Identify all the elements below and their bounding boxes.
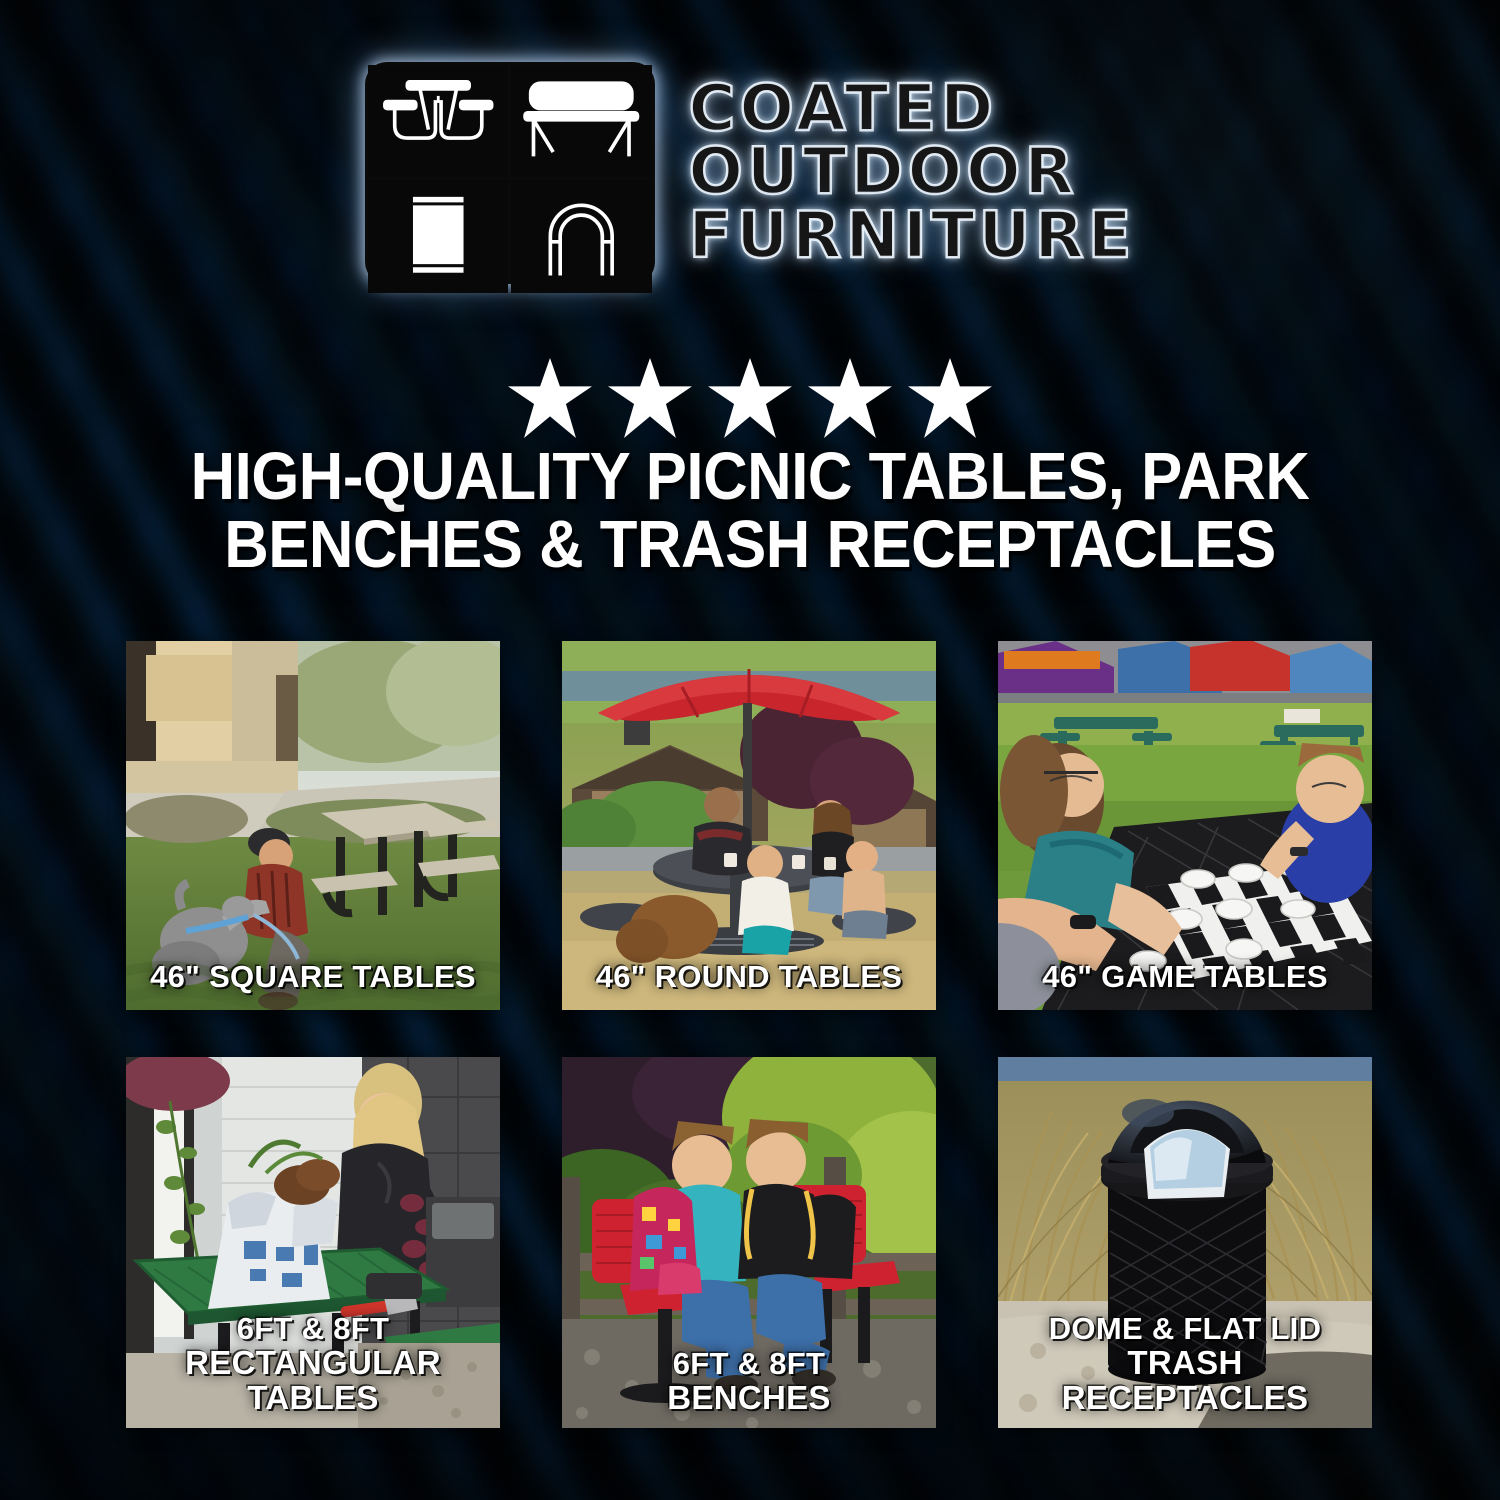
caption-line: 46" ROUND TABLES [568, 961, 930, 994]
gallery-tile-trash-receptacles[interactable]: DOME & FLAT LID TRASH RECEPTACLES [998, 1057, 1372, 1428]
brand-logo: COATED OUTDOOR FURNITURE [0, 62, 1500, 284]
caption-line: 6FT & 8FT [132, 1313, 494, 1346]
star-icon [708, 358, 792, 438]
star-icon [808, 358, 892, 438]
logo-mark [365, 62, 655, 284]
poster-canvas: COATED OUTDOOR FURNITURE HIGH-QUALITY PI… [0, 0, 1500, 1500]
tile-caption: 46" ROUND TABLES [568, 961, 930, 994]
tile-caption: 46" GAME TABLES [1004, 961, 1366, 994]
gallery-tile-rectangular-tables[interactable]: 6FT & 8FT RECTANGULAR TABLES [126, 1057, 500, 1428]
tile-caption: 6FT & 8FT RECTANGULAR TABLES [132, 1313, 494, 1416]
caption-line: 46" SQUARE TABLES [132, 961, 494, 994]
trash-receptacle-icon [368, 180, 509, 292]
park-bench-icon [511, 65, 652, 177]
caption-line: 6FT & 8FT [568, 1348, 930, 1381]
tile-caption: DOME & FLAT LID TRASH RECEPTACLES [1004, 1313, 1366, 1416]
star-rating [0, 358, 1500, 438]
logo-wordmark: COATED OUTDOOR FURNITURE [689, 79, 1136, 267]
product-gallery: 46" SQUARE TABLES [126, 641, 1372, 1428]
gallery-tile-round-tables[interactable]: 46" ROUND TABLES [562, 641, 936, 1010]
caption-line: 46" GAME TABLES [1004, 961, 1366, 994]
logo-line-1: COATED [689, 79, 1136, 140]
photo-round-tables [562, 641, 936, 1010]
gallery-tile-benches[interactable]: 6FT & 8FT BENCHES [562, 1057, 936, 1428]
logo-line-2: OUTDOOR [689, 142, 1136, 203]
tile-caption: 6FT & 8FT BENCHES [568, 1348, 930, 1416]
arch-bike-rack-icon [511, 180, 652, 292]
headline-line-1: HIGH-QUALITY PICNIC TABLES, PARK [191, 439, 1310, 514]
tile-caption: 46" SQUARE TABLES [132, 961, 494, 994]
picnic-table-icon [368, 65, 509, 177]
page-title: HIGH-QUALITY PICNIC TABLES, PARK BENCHES… [115, 443, 1385, 580]
caption-line: RECTANGULAR TABLES [132, 1346, 494, 1416]
headline-line-2: BENCHES & TRASH RECEPTACLES [115, 511, 1385, 579]
logo-line-3: FURNITURE [689, 206, 1136, 267]
photo-square-tables [126, 641, 500, 1010]
gallery-tile-square-tables[interactable]: 46" SQUARE TABLES [126, 641, 500, 1010]
star-icon [508, 358, 592, 438]
photo-game-tables [998, 641, 1372, 1010]
star-icon [608, 358, 692, 438]
caption-line: BENCHES [568, 1381, 930, 1416]
caption-line: TRASH RECEPTACLES [1004, 1346, 1366, 1416]
star-icon [908, 358, 992, 438]
gallery-tile-game-tables[interactable]: 46" GAME TABLES [998, 641, 1372, 1010]
caption-line: DOME & FLAT LID [1004, 1313, 1366, 1346]
